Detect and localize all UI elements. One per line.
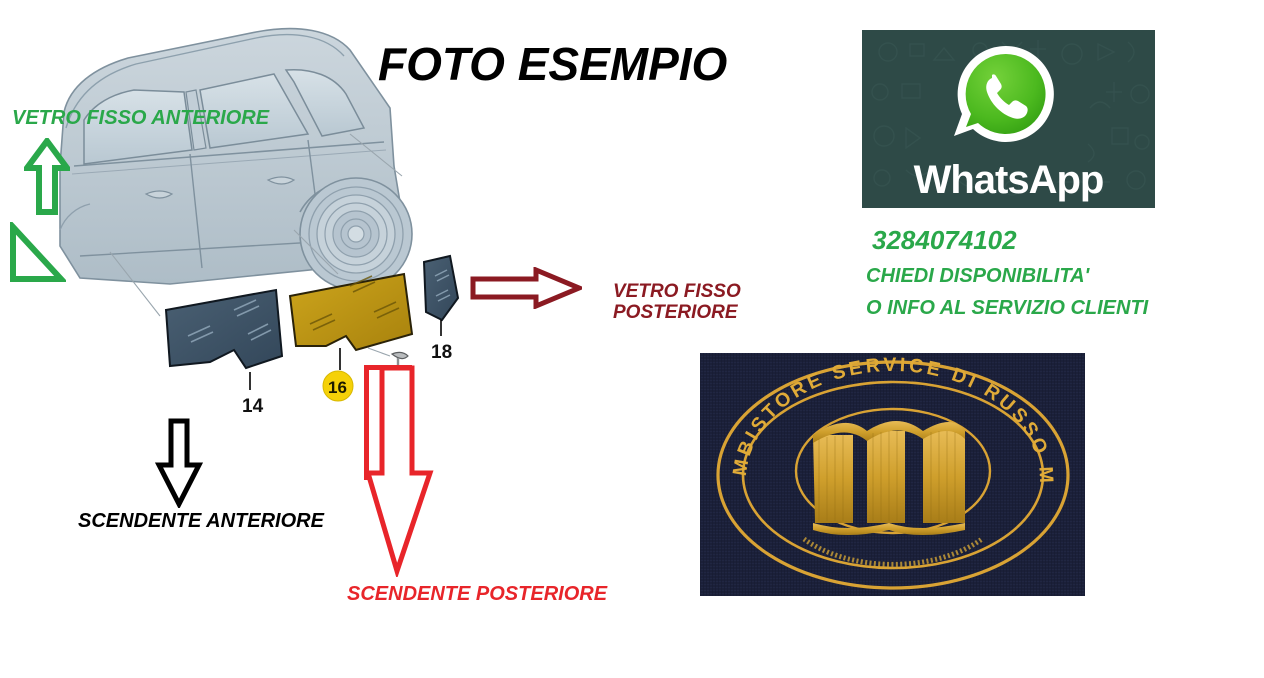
svg-text:16: 16 [328, 378, 347, 397]
whatsapp-wordmark: WhatsApp [862, 158, 1155, 203]
label-line-2: POSTERIORE [613, 302, 741, 323]
part-14-glass: 14 [166, 290, 282, 417]
brand-monogram [813, 421, 965, 535]
phone-number[interactable]: 3284074102 [872, 225, 1017, 256]
svg-text:14: 14 [242, 396, 264, 417]
label-scendente-posteriore: SCENDENTE POSTERIORE [347, 583, 607, 605]
triangle-green-icon [8, 222, 66, 289]
part-18-glass: 18 [424, 256, 458, 363]
contact-line-2: O INFO AL SERVIZIO CLIENTI [866, 297, 1148, 320]
svg-text:18: 18 [431, 342, 452, 363]
page-title: FOTO ESEMPIO [378, 37, 798, 91]
label-scendente-anteriore: SCENDENTE ANTERIORE [78, 510, 324, 532]
label-vetro-fisso-anteriore: VETRO FISSO ANTERIORE [12, 107, 269, 129]
whatsapp-banner[interactable]: WhatsApp [862, 30, 1155, 208]
contact-line-1: CHIEDI DISPONIBILITA' [866, 265, 1089, 288]
label-vetro-fisso-posteriore: VETRO FISSO POSTERIORE [613, 281, 741, 324]
down-arrow-red-icon [364, 365, 436, 582]
label-line-1: VETRO FISSO [613, 281, 741, 302]
right-arrow-darkred-icon [470, 267, 582, 314]
down-arrow-black-icon [155, 418, 203, 513]
whatsapp-logo-icon [940, 40, 1072, 160]
brand-logo-image: MRICAMBISTORE SERVICE DI RUSSO MARCO [700, 353, 1085, 596]
up-arrow-green-icon [24, 138, 70, 221]
